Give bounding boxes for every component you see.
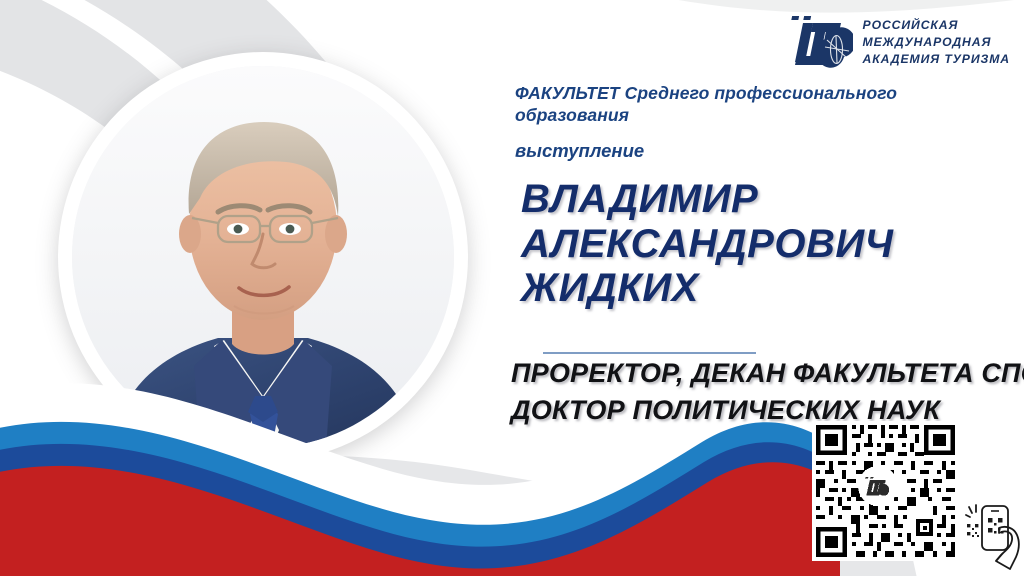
speaker-patronymic: АЛЕКСАНДРОВИЧ: [521, 222, 1015, 267]
divider-rule: [543, 352, 756, 354]
faculty-line-2: образования: [515, 105, 629, 125]
role-line-1: ПРОРЕКТОР, ДЕКАН ФАКУЛЬТЕТА СПО: [511, 355, 1021, 392]
faculty-heading: ФАКУЛЬТЕТ Среднего профессионального обр…: [515, 82, 1015, 127]
speaker-announcement-slide: РОССИЙСКАЯ МЕЖДУНАРОДНАЯ АКАДЕМИЯ ТУРИЗМ…: [0, 0, 1024, 576]
speaker-last-name: ЖИДКИХ: [521, 266, 1015, 311]
qr-center-logo: [858, 466, 898, 506]
logo-line-1: РОССИЙСКАЯ: [863, 17, 1010, 33]
speaker-name: ВЛАДИМИР АЛЕКСАНДРОВИЧ ЖИДКИХ: [521, 177, 1015, 311]
qr-code[interactable]: [812, 421, 959, 561]
riat-logo: РОССИЙСКАЯ МЕЖДУНАРОДНАЯ АКАДЕМИЯ ТУРИЗМ…: [787, 12, 1010, 72]
riat-logo-text: РОССИЙСКАЯ МЕЖДУНАРОДНАЯ АКАДЕМИЯ ТУРИЗМ…: [863, 17, 1010, 67]
faculty-line-1: ФАКУЛЬТЕТ Среднего профессионального: [515, 83, 897, 103]
logo-line-2: МЕЖДУНАРОДНАЯ: [863, 34, 1010, 50]
riat-monogram-icon: [787, 12, 853, 72]
speaker-text-column: ФАКУЛЬТЕТ Среднего профессионального обр…: [515, 82, 1015, 311]
speech-label: выступление: [515, 139, 1015, 163]
hand-holding-phone-scan-icon: [963, 497, 1021, 573]
speaker-role: ПРОРЕКТОР, ДЕКАН ФАКУЛЬТЕТА СПО ДОКТОР П…: [511, 355, 1021, 429]
speaker-first-name: ВЛАДИМИР: [521, 177, 1015, 222]
logo-line-3: АКАДЕМИЯ ТУРИЗМА: [863, 51, 1010, 67]
